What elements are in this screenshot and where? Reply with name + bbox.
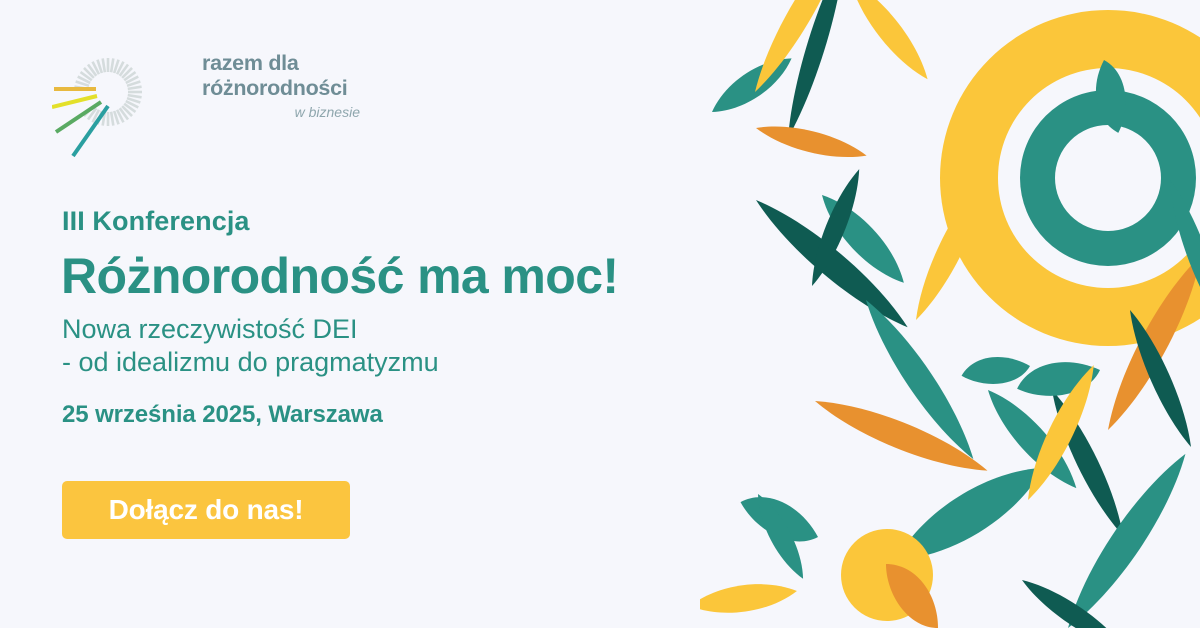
subtitle-line-1: Nowa rzeczywistość DEI [62,313,439,346]
radial-burst-logo-mark [52,34,167,159]
logo-tagline: w biznesie [202,102,362,122]
logo[interactable]: razem dla różnorodności w biznesie [52,34,352,159]
eyebrow-label: III Konferencja [62,206,250,237]
leaf-pattern-decoration [700,0,1200,628]
date-location: 25 września 2025, Warszawa [62,401,383,429]
logo-line-1: razem dla [202,51,362,76]
logo-wordmark: razem dla różnorodności w biznesie [202,51,362,122]
target-ring-shape [940,10,1200,346]
subtitle-line-2: - od idealizmu do pragmatyzmu [62,346,439,379]
join-us-button[interactable]: Dołącz do nas! [62,481,350,539]
subtitle: Nowa rzeczywistość DEI - od idealizmu do… [62,313,439,379]
conference-banner: razem dla różnorodności w biznesie III K… [0,0,1200,628]
page-title: Różnorodność ma moc! [61,247,618,305]
logo-line-2: różnorodności [202,76,362,101]
